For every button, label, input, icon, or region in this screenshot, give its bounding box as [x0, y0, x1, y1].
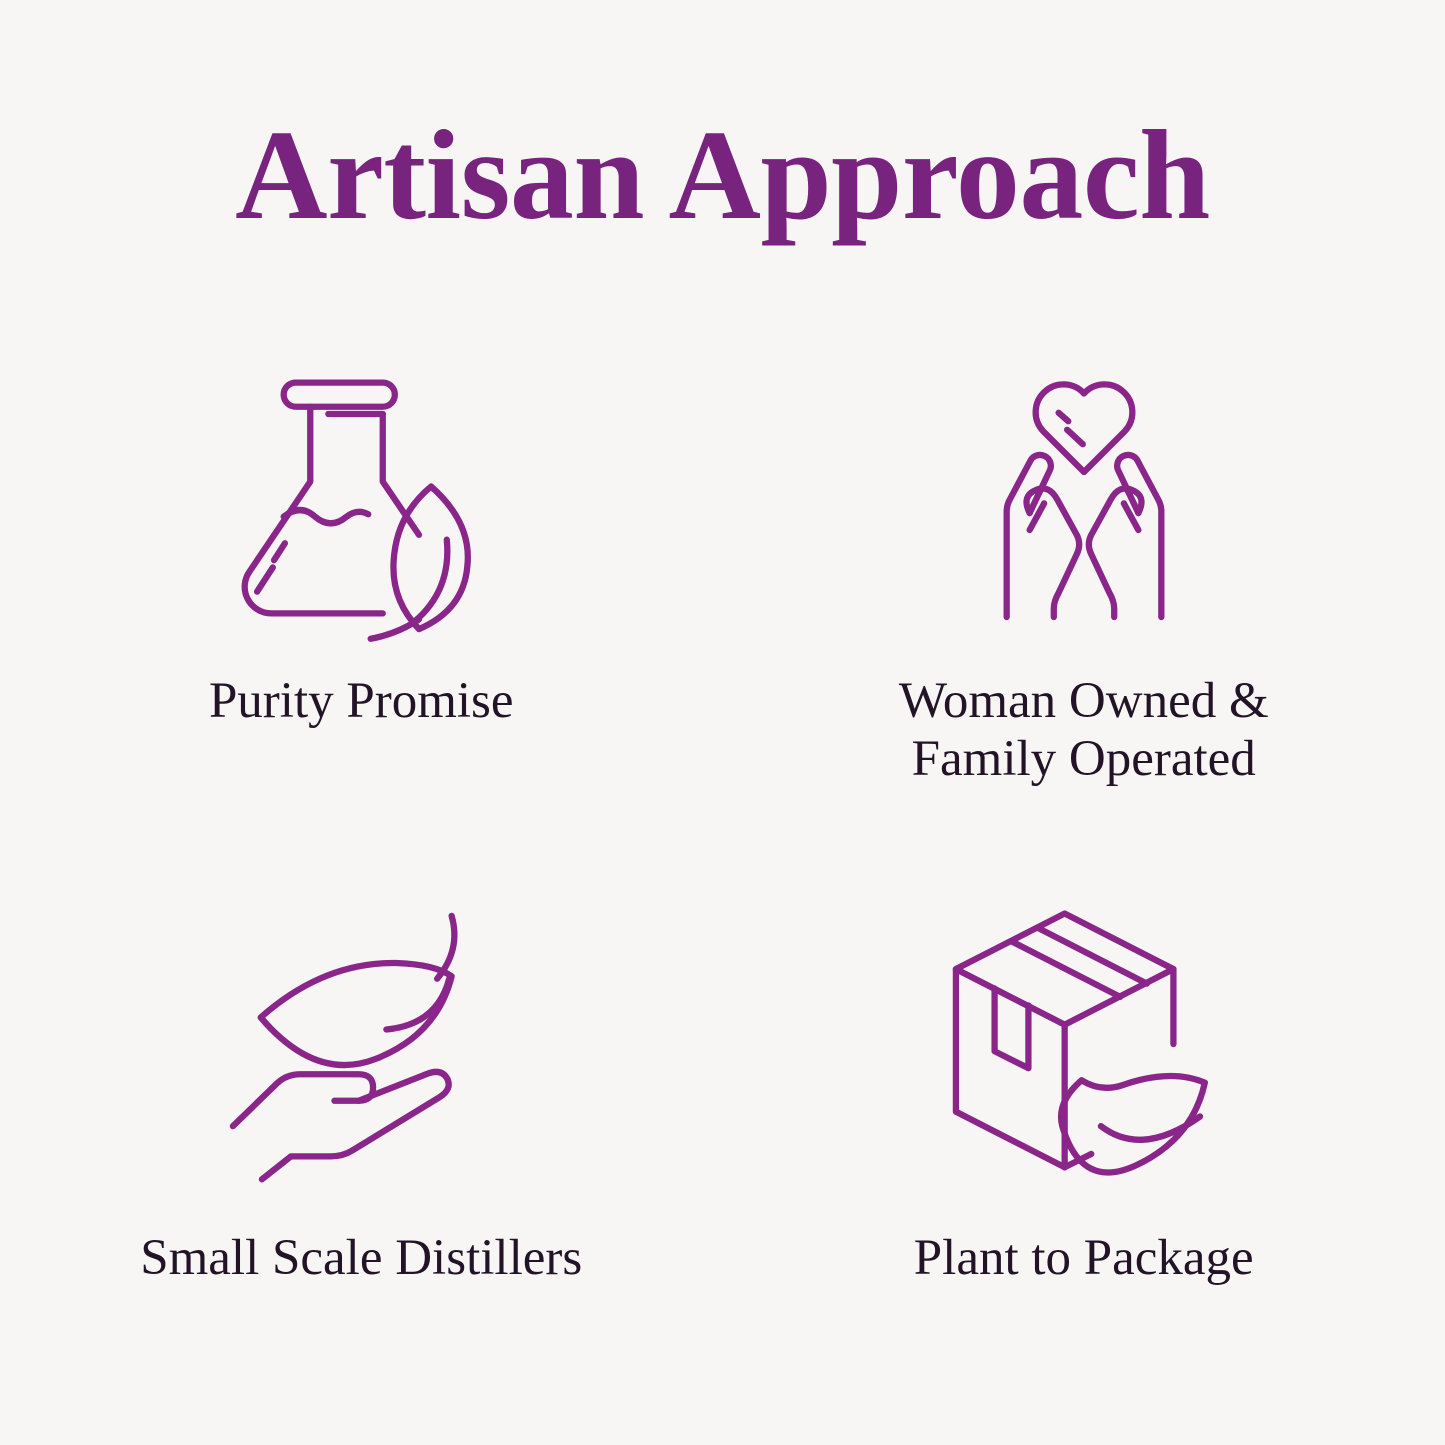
hand-leaf-icon [211, 899, 511, 1189]
feature-label-purity-promise: Purity Promise [209, 672, 514, 730]
box-leaf-icon [934, 899, 1234, 1189]
feature-label-line: Purity Promise [209, 672, 514, 730]
feature-small-scale-distillers: Small Scale Distillers [0, 855, 723, 1380]
feature-label-line: Woman Owned & [899, 672, 1269, 730]
artisan-approach-graphic: Artisan Approach [0, 0, 1445, 1445]
feature-plant-to-package: Plant to Package [723, 855, 1445, 1380]
feature-label-line: Family Operated [899, 730, 1269, 788]
flask-leaf-icon [211, 356, 511, 646]
feature-purity-promise: Purity Promise [0, 330, 723, 855]
feature-grid: Purity Promise [0, 330, 1445, 1380]
feature-label-woman-owned: Woman Owned & Family Operated [899, 672, 1269, 788]
page-title: Artisan Approach [0, 108, 1445, 242]
feature-label-line: Small Scale Distillers [140, 1229, 582, 1287]
feature-label-plant-to-package: Plant to Package [914, 1229, 1254, 1287]
page-title-container: Artisan Approach [0, 108, 1445, 242]
feature-label-small-scale-distillers: Small Scale Distillers [140, 1229, 582, 1287]
feature-label-line: Plant to Package [914, 1229, 1254, 1287]
feature-woman-owned: Woman Owned & Family Operated [723, 330, 1445, 855]
hands-heart-icon [934, 356, 1234, 646]
